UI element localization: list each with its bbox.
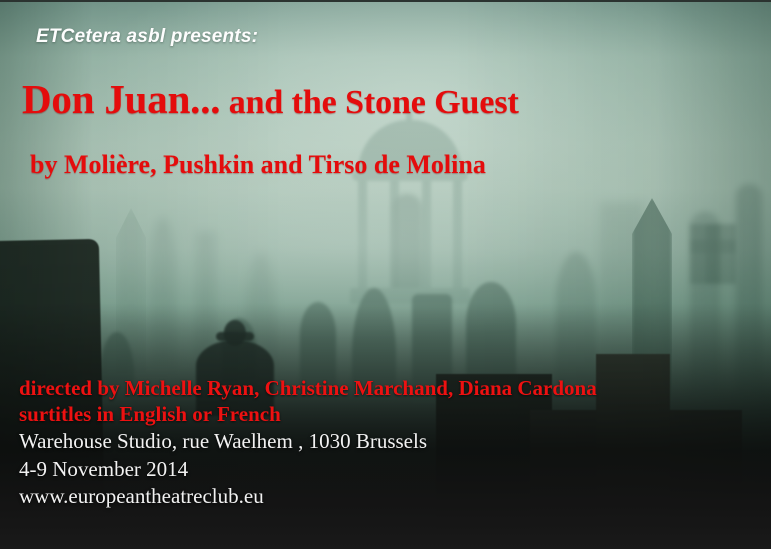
theatre-poster: ETCetera asbl presents: Don Juan... and … [0, 0, 771, 549]
venue-line: Warehouse Studio, rue Waelhem , 1030 Bru… [19, 427, 597, 455]
surtitles-line: surtitles in English or French [19, 402, 597, 428]
title-main: Don Juan... [22, 76, 220, 122]
dates-line: 4-9 November 2014 [19, 455, 597, 483]
title-subtitle: and the Stone Guest [220, 84, 518, 121]
authors-byline: by Molière, Pushkin and Tirso de Molina [30, 150, 486, 180]
presenter-line: ETCetera asbl presents: [36, 26, 258, 48]
poster-title: Don Juan... and the Stone Guest [22, 75, 519, 123]
directors-line: directed by Michelle Ryan, Christine Mar… [19, 376, 597, 402]
credits-block: directed by Michelle Ryan, Christine Mar… [19, 376, 597, 510]
website-line: www.europeantheatreclub.eu [19, 482, 597, 510]
